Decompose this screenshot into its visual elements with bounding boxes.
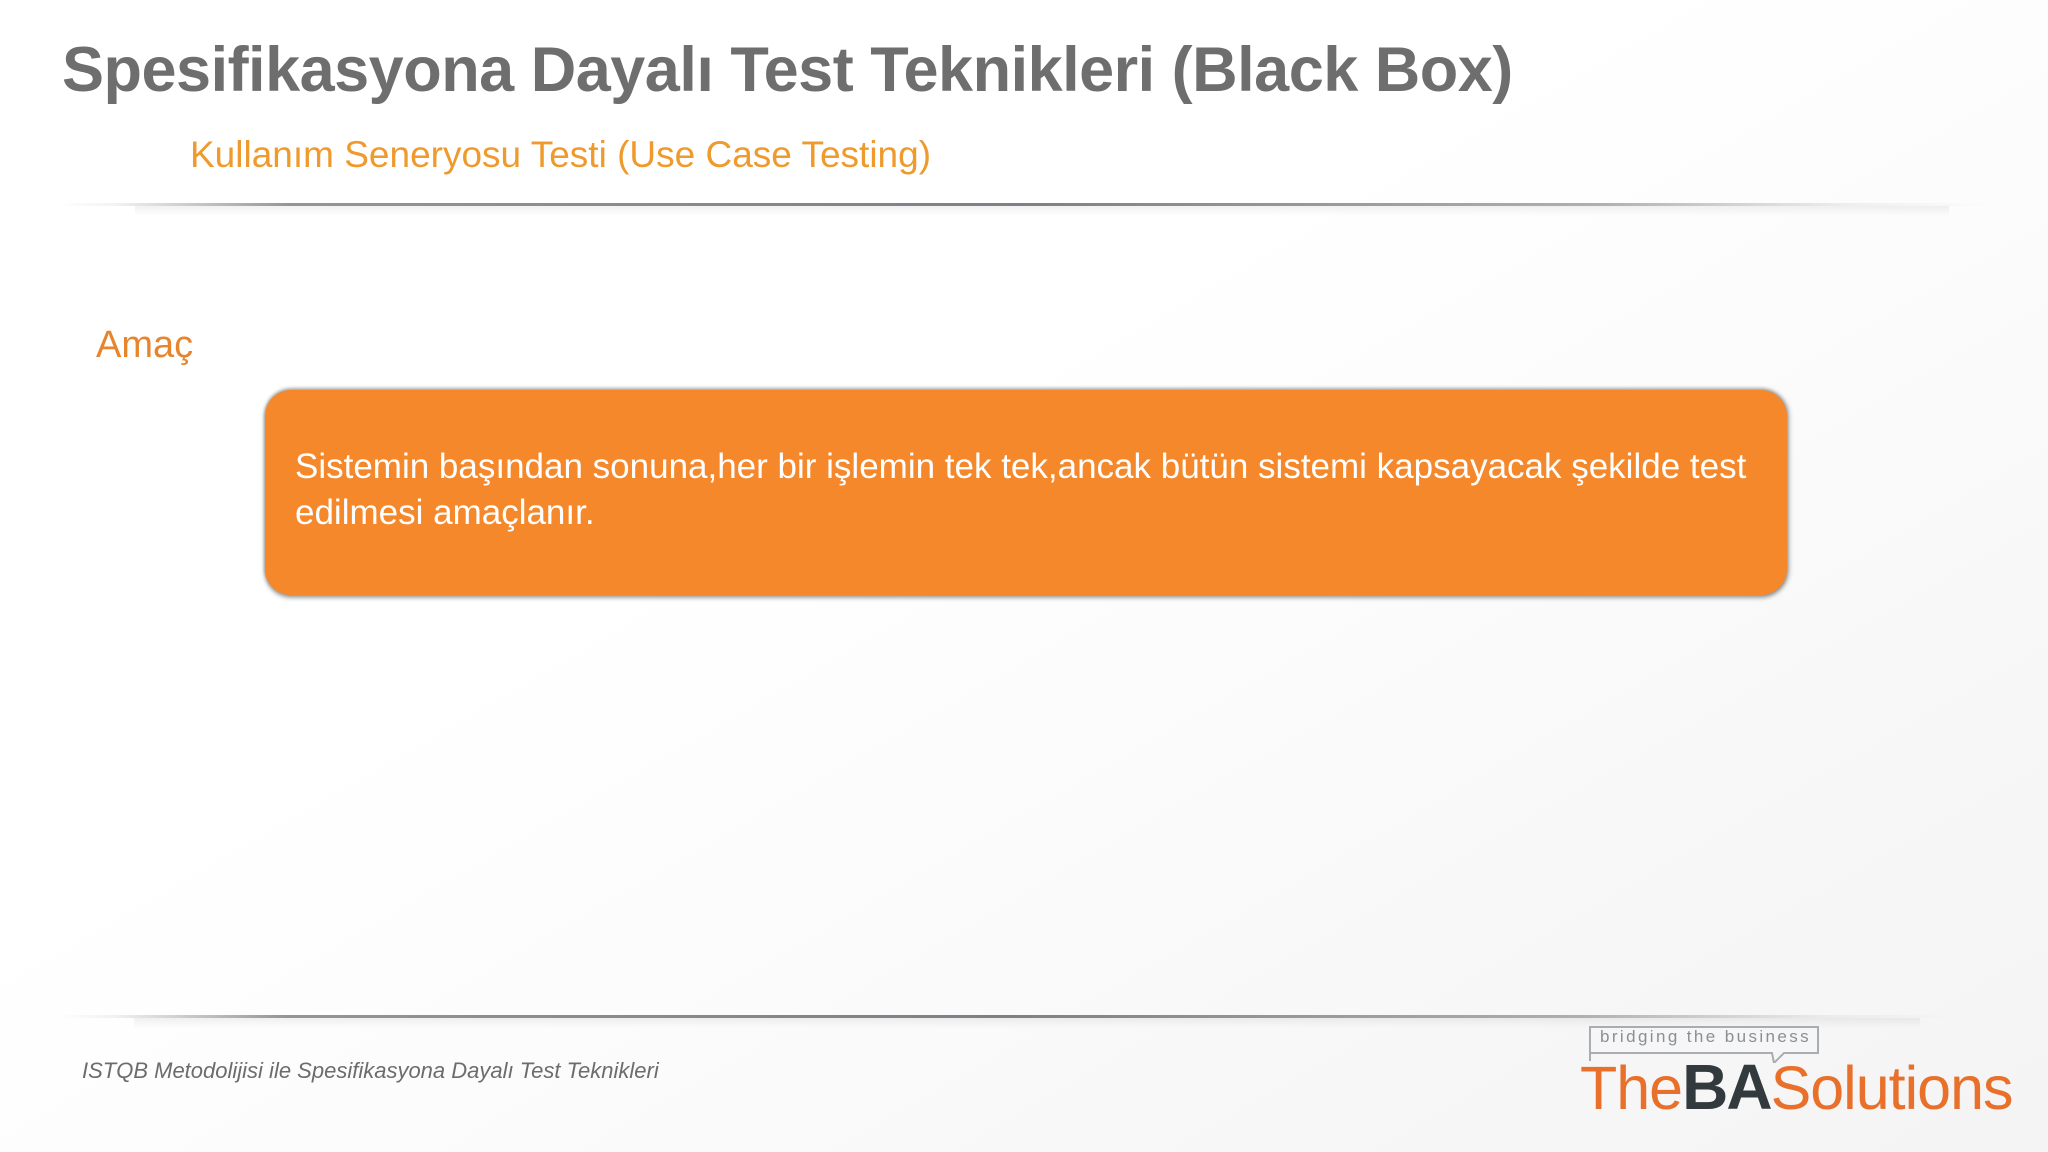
section-label-amac: Amaç xyxy=(96,325,193,367)
logo-wordmark: TheBASolutions xyxy=(1580,1055,2013,1119)
logo-part-solutions: Solutions xyxy=(1771,1054,2013,1122)
logo-part-the: The xyxy=(1580,1054,1682,1122)
callout-box: Sistemin başından sonuna,her bir işlemin… xyxy=(265,390,1787,595)
slide-canvas: Spesifikasyona Dayalı Test Teknikleri (B… xyxy=(0,0,2048,1152)
logo-tagline: bridging the business xyxy=(1600,1027,1811,1047)
callout-text: Sistemin başından sonuna,her bir işlemin… xyxy=(295,444,1765,535)
footer-divider xyxy=(58,1015,1958,1018)
header-divider xyxy=(58,203,1988,206)
logo-part-ba: BA xyxy=(1682,1051,1770,1123)
company-logo: bridging the business TheBASolutions xyxy=(1580,1023,2030,1143)
page-subtitle: Kullanım Seneryosu Testi (Use Case Testi… xyxy=(190,135,931,176)
slide-header: Spesifikasyona Dayalı Test Teknikleri (B… xyxy=(0,0,2048,210)
page-title: Spesifikasyona Dayalı Test Teknikleri (B… xyxy=(62,36,1982,104)
footer-note: ISTQB Metodolijisi ile Spesifikasyona Da… xyxy=(82,1058,659,1084)
